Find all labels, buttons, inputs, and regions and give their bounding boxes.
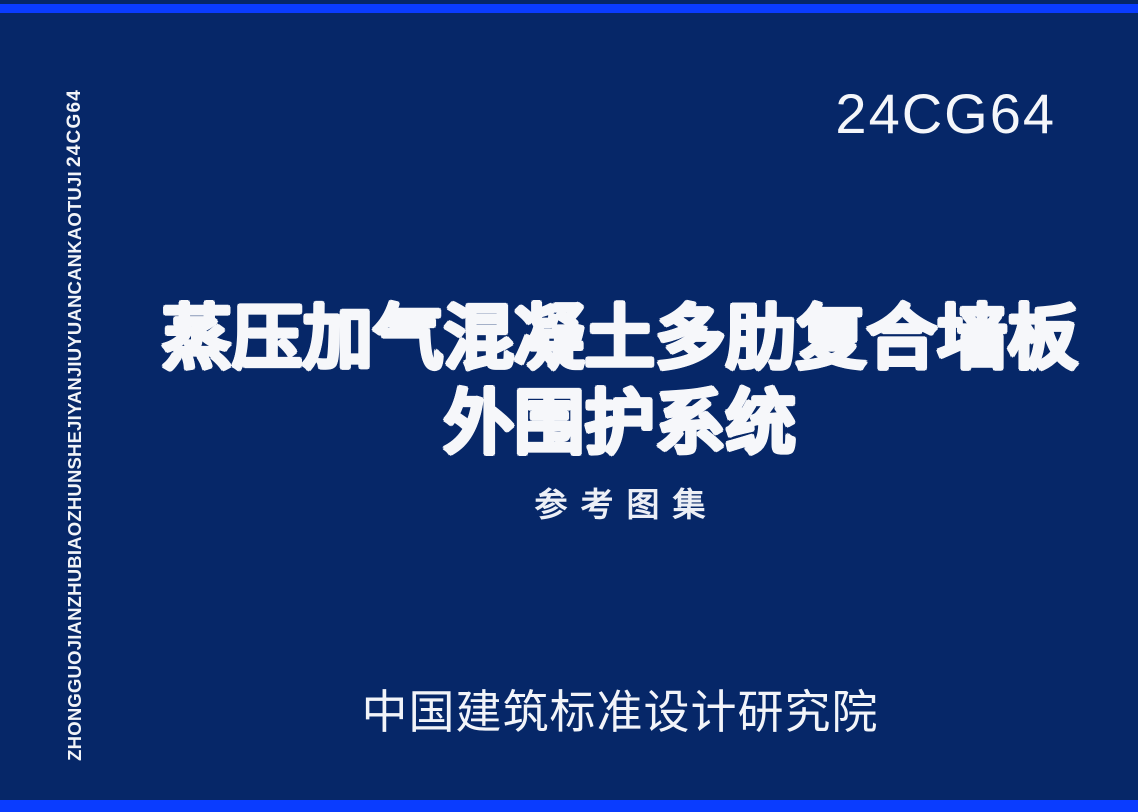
title-line-2: 外围护系统	[150, 381, 1090, 466]
spine-text-group: 24CG64 ZHONGGUOJIANZHUBIAOZHUNSHEJIYANJI…	[0, 0, 150, 812]
cover-subtitle: 参考图集	[150, 478, 1090, 526]
atlas-number: 24CG64	[835, 86, 1056, 142]
book-cover: 24CG64 ZHONGGUOJIANZHUBIAOZHUNSHEJIYANJI…	[0, 0, 1138, 812]
publisher-name: 中国建筑标准设计研究院	[150, 676, 1090, 742]
spine-pinyin-text: ZHONGGUOJIANZHUBIAOZHUNSHEJIYANJIUYUANCA…	[64, 171, 86, 761]
top-accent-rule	[0, 4, 1138, 13]
bottom-accent-rule	[0, 800, 1138, 812]
cover-title: 蒸压加气混凝土多肋复合墙板 外围护系统	[150, 296, 1090, 467]
spine-atlas-code: 24CG64	[64, 89, 86, 167]
title-line-1: 蒸压加气混凝土多肋复合墙板	[150, 296, 1090, 381]
